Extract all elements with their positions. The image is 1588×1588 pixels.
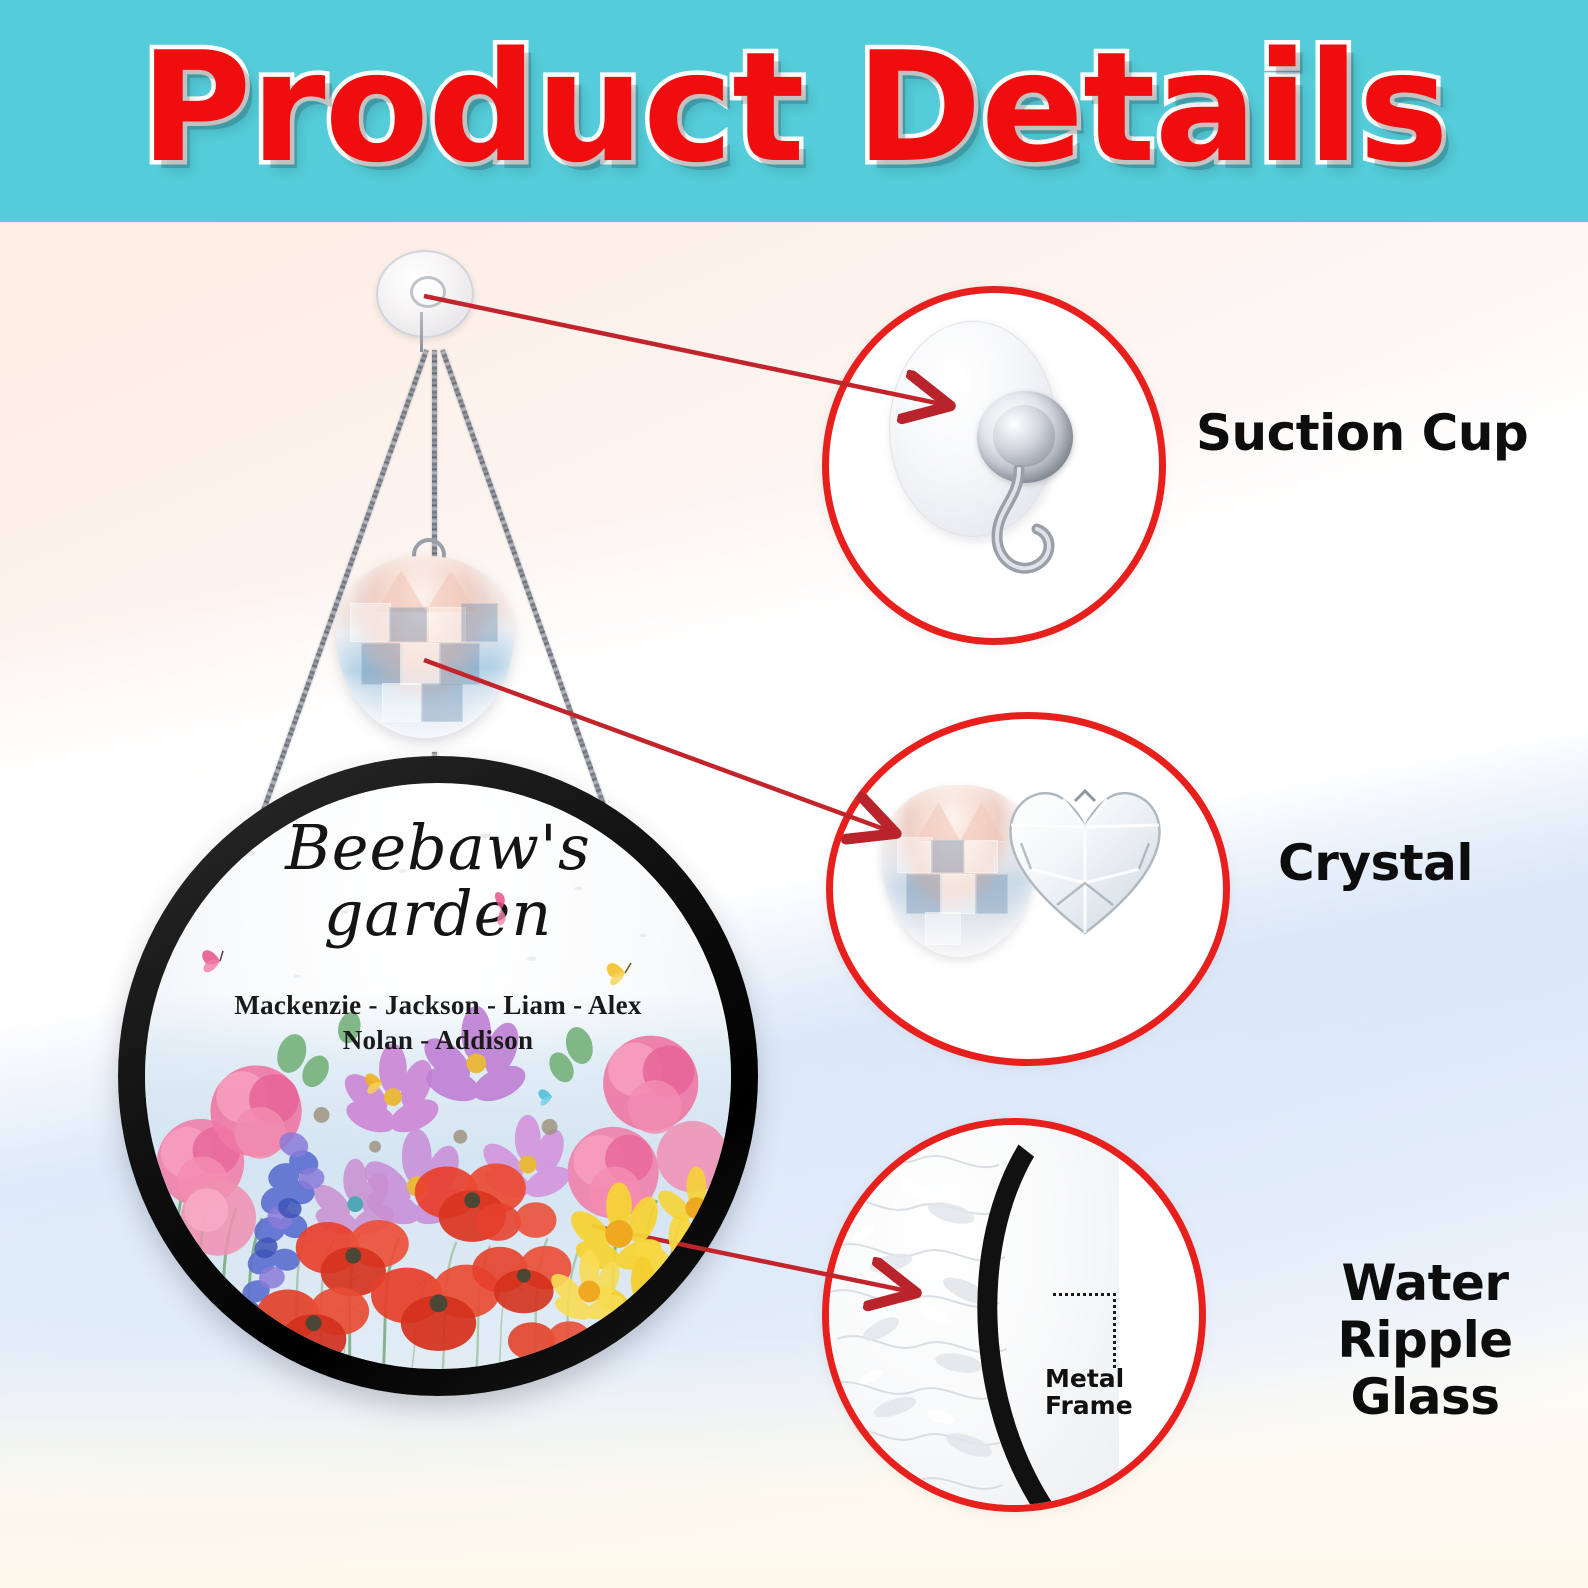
crystal-ball-icon [336, 538, 514, 738]
disc-names-line2: Nolan - Addison [118, 1023, 758, 1058]
crystal-facet [925, 912, 961, 945]
crystal-facet [931, 840, 964, 873]
crystal-facet [382, 683, 423, 721]
butterfly-magenta-icon [487, 889, 517, 929]
butterfly-blue-icon [535, 1083, 571, 1111]
crystal-facet [350, 603, 391, 641]
metal-frame-leader-line [1053, 1293, 1116, 1368]
callout-suction-cup-content [829, 293, 1159, 638]
crystal-facet [421, 683, 462, 721]
label-crystal: Crystal [1278, 835, 1473, 892]
crystal-facet [389, 607, 427, 642]
suction-cup-icon [376, 250, 474, 338]
crystal-facet [361, 643, 402, 685]
disc-title-line1: Beebaw's [285, 811, 591, 884]
disc-names: Mackenzie - Jackson - Liam - Alex Nolan … [118, 988, 758, 1057]
metal-frame-label-line2: Frame [1045, 1392, 1133, 1419]
crystal-heart-icon [1001, 773, 1169, 943]
product-details-infographic: Product Details [0, 0, 1588, 1588]
disc-title: Beebaw's garden [118, 818, 758, 943]
crystal-facet [897, 837, 933, 873]
crystal-facet [965, 840, 998, 873]
crystal-facet [439, 643, 480, 685]
s-hook-icon [979, 465, 1069, 591]
suncatcher-disc: Beebaw's garden Mackenzie - Jackson - Li… [118, 756, 758, 1396]
crystal-facet [959, 802, 1005, 842]
suction-cup-stem [420, 312, 423, 352]
suction-cup-hole [410, 276, 446, 308]
disc-title-line2: garden [118, 884, 758, 944]
metal-frame-label-line1: Metal [1045, 1365, 1133, 1392]
chain-middle-upper-icon [432, 350, 437, 560]
crystal-facet [400, 643, 441, 685]
suction-cup-boss-inner-icon [993, 405, 1055, 467]
butterfly-pink-icon [197, 943, 243, 979]
page-title: Product Details [140, 32, 1448, 184]
crystal-facet [461, 603, 499, 641]
callout-crystal-content [833, 719, 1223, 1059]
butterfly-yellow-icon [603, 953, 649, 993]
callout-glass-content: Metal Frame [829, 1125, 1199, 1505]
callout-water-ripple-glass: Metal Frame [822, 1118, 1206, 1512]
callout-crystal [826, 712, 1230, 1066]
metal-frame-label: Metal Frame [1045, 1365, 1133, 1419]
disc-names-line1: Mackenzie - Jackson - Liam - Alex [118, 988, 758, 1023]
header-band: Product Details [0, 0, 1588, 222]
label-water-ripple-glass: Water Ripple Glass [1262, 1255, 1588, 1426]
crystal-facet [940, 874, 976, 914]
butterfly-gold-icon [361, 1065, 405, 1101]
crystal-body [336, 556, 514, 738]
crystal-facet [906, 874, 942, 914]
label-suction-cup: Suction Cup [1196, 405, 1528, 462]
label-glass-line2: Ripple Glass [1262, 1312, 1588, 1426]
label-glass-line1: Water [1341, 1254, 1508, 1312]
callout-suction-cup [822, 286, 1166, 645]
